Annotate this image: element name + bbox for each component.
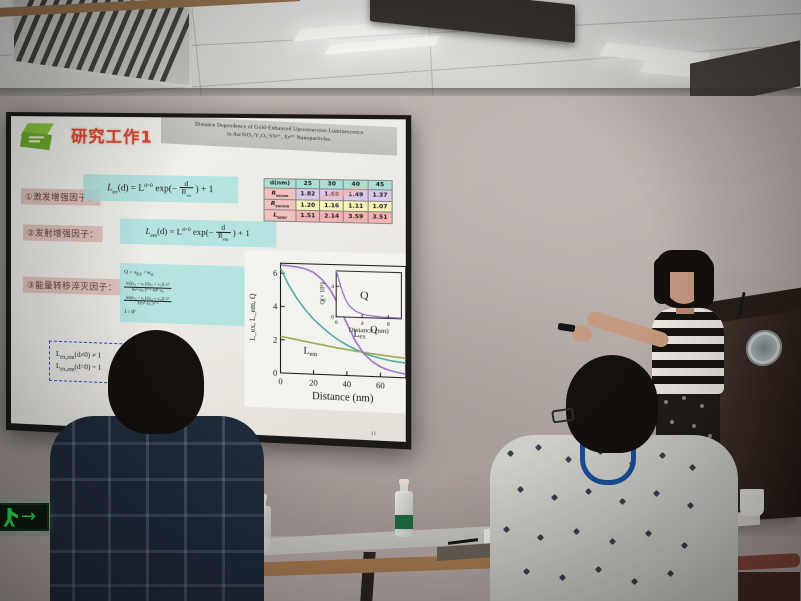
audience-left-shirt bbox=[50, 416, 264, 601]
x-tick-label: 0 bbox=[278, 377, 282, 387]
table-row-label: Rex/nm bbox=[264, 188, 296, 199]
f2-body: (d) = L bbox=[157, 226, 182, 237]
f2-den-sub: em bbox=[223, 237, 229, 242]
conference-room-scene: 研究工作1 Distance Dependence of Gold-Enhanc… bbox=[0, 0, 801, 601]
chart-inset-frame bbox=[336, 271, 401, 319]
table-cell-1-2: 1.11 bbox=[344, 201, 368, 212]
f3-l1d: 0 bbox=[151, 272, 153, 277]
chart-label-L_em: Lem bbox=[304, 345, 318, 358]
table-cell-2-0: 1.51 bbox=[296, 211, 320, 222]
table-cell-0-0: 1.82 bbox=[296, 189, 320, 200]
table-cell-2-3: 3.51 bbox=[368, 212, 392, 223]
bullet-label-2: ②发射增强因子： bbox=[23, 224, 103, 242]
paper-cup-icon bbox=[740, 489, 764, 516]
x-tick-label: 60 bbox=[376, 381, 385, 391]
f3-l5: 32π³·(ε₁)³ᐟ² bbox=[124, 301, 172, 307]
table-header-cell-3: 40 bbox=[344, 180, 368, 190]
f3-l1c: / w bbox=[142, 270, 150, 276]
presenter-hair-right bbox=[694, 256, 714, 308]
y-tick-label: 4 bbox=[273, 302, 277, 311]
table-cell-0-1: 1.68 bbox=[320, 189, 344, 200]
table-header-cell-4: 45 bbox=[368, 180, 392, 190]
y-tick-label: 2 bbox=[273, 335, 277, 344]
table-cell-1-3: 1.07 bbox=[368, 201, 392, 212]
audience-right-head bbox=[566, 355, 658, 453]
formula-quenching: Q = aET / w0 ln[(ε₂ − ε₁)/(ε₂ + ε₁)]·λ³ … bbox=[120, 263, 251, 326]
f3-l1: Q = a bbox=[124, 269, 137, 275]
audience-member-left bbox=[58, 330, 258, 601]
f1-body: (d) = L bbox=[118, 182, 144, 193]
f2-tail: ) + 1 bbox=[233, 227, 250, 238]
exit-sign: → bbox=[0, 503, 49, 531]
chart-series-L_em bbox=[281, 336, 406, 358]
formula-emission: Lem(d) = Ld=0 exp(− d Rem ) + 1 bbox=[120, 218, 276, 247]
running-person-exit-icon bbox=[1, 508, 18, 527]
inset-y-tick-label: 0 bbox=[331, 314, 334, 320]
table-row: Ltotal1.512.143.593.51 bbox=[264, 210, 392, 224]
presenter-hair-left bbox=[654, 258, 670, 304]
f1-tail: ) + 1 bbox=[196, 183, 214, 194]
f2-sup: d=0 bbox=[182, 226, 191, 232]
table-cell-2-1: 2.14 bbox=[320, 211, 344, 222]
fluorescent-light-icon bbox=[324, 35, 440, 54]
table-row-label: Ltotal bbox=[264, 210, 296, 221]
inset-y-tick-label: 4 bbox=[331, 284, 334, 290]
exit-arrow-icon: → bbox=[21, 508, 36, 526]
f1-den-sub: ex bbox=[187, 193, 191, 198]
chart-inset-annotation: Q bbox=[360, 289, 369, 302]
y-tick-label: 0 bbox=[273, 368, 277, 378]
chart-inset-ylabel: Q(× 10⁵) bbox=[319, 282, 327, 304]
f1-sup: d=0 bbox=[144, 182, 153, 188]
x-tick-label: 20 bbox=[309, 378, 318, 388]
slide-title: 研究工作1 bbox=[71, 123, 153, 148]
chart-inset-xlabel: Distance (nm) bbox=[349, 327, 389, 336]
distance-dependence-chart: 02040600246LexLemQDistance (nm)L_ex, L_e… bbox=[244, 250, 405, 414]
chart-svg: 02040600246LexLemQDistance (nm)L_ex, L_e… bbox=[244, 250, 405, 414]
table-cell-1-0: 1.20 bbox=[296, 200, 320, 211]
y-tick-label: 6 bbox=[273, 269, 277, 278]
audience-member-right bbox=[500, 355, 730, 601]
bullet-label-3: ③能量转移淬灭因子： bbox=[23, 276, 121, 295]
chart-xlabel: Distance (nm) bbox=[312, 391, 373, 405]
audience-left-head bbox=[108, 330, 204, 434]
x-tick-label: 40 bbox=[343, 379, 352, 389]
green-cube-logo-icon bbox=[21, 123, 55, 149]
inset-x-tick-label: 0 bbox=[335, 320, 338, 326]
table-cell-1-1: 1.16 bbox=[320, 200, 344, 211]
f2-exp: exp(− bbox=[193, 227, 214, 238]
parameter-table: d(nm)25304045Rex/nm1.821.681.491.37Rem/n… bbox=[264, 178, 393, 224]
table-header-cell-1: 25 bbox=[296, 179, 320, 189]
table-cell-0-3: 1.37 bbox=[368, 190, 392, 201]
table-row-label: Rem/nm bbox=[264, 199, 296, 210]
f1-exp: exp(− bbox=[155, 183, 177, 194]
f3-l6: 1 / d³ bbox=[124, 308, 136, 318]
ceiling bbox=[0, 0, 801, 100]
ceiling-projector-icon bbox=[370, 0, 575, 43]
table-cell-0-2: 1.49 bbox=[344, 190, 368, 201]
f3-l3: 8π³·(ε₁)³ᐟ²·4d³·a₀ bbox=[124, 287, 172, 293]
table-header-cell-2: 30 bbox=[320, 179, 344, 189]
formula-excitation: Lex(d) = Ld=0 exp(− d Rex ) + 1 bbox=[83, 174, 238, 203]
slide-page-number: 11 bbox=[371, 431, 377, 438]
table-cell-2-2: 3.59 bbox=[344, 212, 368, 223]
table-header-cell-0: d(nm) bbox=[264, 179, 296, 189]
